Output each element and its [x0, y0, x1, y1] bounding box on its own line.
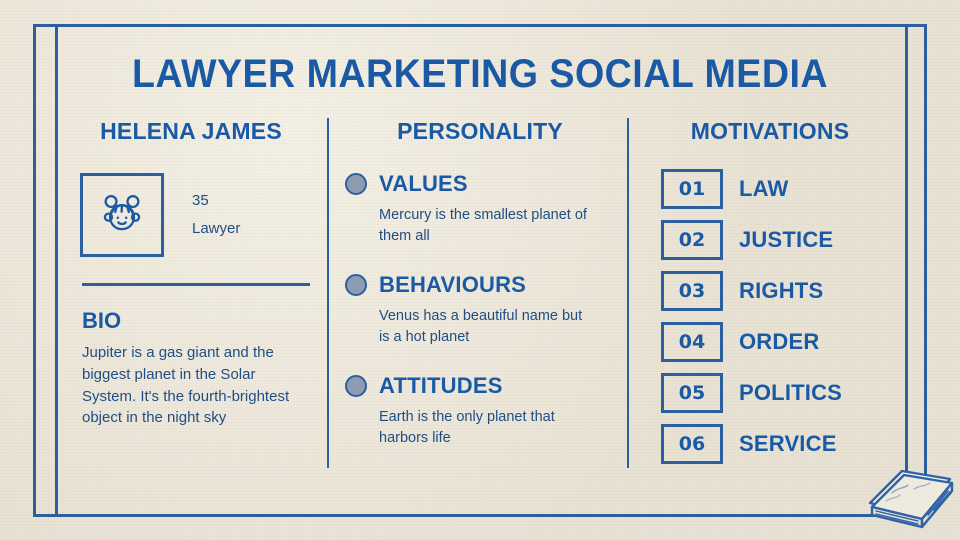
- motivation-number: 05: [661, 373, 723, 413]
- personality-item: BEHAVIOURS Venus has a beautiful name bu…: [345, 272, 615, 347]
- motivation-number: 04: [661, 322, 723, 362]
- persona-occupation: Lawyer: [192, 215, 240, 244]
- motivation-label: POLITICS: [739, 380, 842, 406]
- motivation-number: 02: [661, 220, 723, 260]
- personality-item-header: VALUES: [345, 171, 615, 197]
- motivation-number: 03: [661, 271, 723, 311]
- personality-item: ATTITUDES Earth is the only planet that …: [345, 373, 615, 448]
- slide-title: LAWYER MARKETING SOCIAL MEDIA: [29, 52, 931, 97]
- column-divider-right: [627, 118, 629, 468]
- bullet-circle-icon: [345, 274, 367, 296]
- personality-item-header: BEHAVIOURS: [345, 272, 615, 298]
- bullet-circle-icon: [345, 375, 367, 397]
- personality-item-body: Venus has a beautiful name but is a hot …: [379, 306, 587, 347]
- personality-item-header: ATTITUDES: [345, 373, 615, 399]
- motivations-heading: MOTIVATIONS: [640, 118, 900, 145]
- motivation-label: JUSTICE: [739, 227, 833, 253]
- personality-heading: PERSONALITY: [345, 118, 615, 145]
- motivation-number: 06: [661, 424, 723, 464]
- motivations-column: MOTIVATIONS 01 LAW 02 JUSTICE 03 RIGHTS …: [640, 118, 900, 475]
- motivation-label: ORDER: [739, 329, 819, 355]
- motivations-list: 01 LAW 02 JUSTICE 03 RIGHTS 04 ORDER 05 …: [640, 169, 900, 464]
- motivation-label: SERVICE: [739, 431, 837, 457]
- personality-item-label: BEHAVIOURS: [379, 272, 526, 298]
- personality-item: VALUES Mercury is the smallest planet of…: [345, 171, 615, 246]
- personality-item-label: ATTITUDES: [379, 373, 503, 399]
- persona-divider-rule: [82, 283, 310, 286]
- motivation-label: RIGHTS: [739, 278, 823, 304]
- persona-column: HELENA JAMES: [60, 118, 322, 429]
- slide-content: LAWYER MARKETING SOCIAL MEDIA HELENA JAM…: [0, 0, 960, 540]
- motivation-item: 01 LAW: [661, 169, 900, 209]
- avatar-frame: [80, 173, 164, 257]
- bullet-circle-icon: [345, 173, 367, 195]
- persona-profile-row: 35 Lawyer: [60, 173, 322, 257]
- persona-name-heading: HELENA JAMES: [60, 118, 322, 145]
- column-divider-left: [327, 118, 329, 468]
- persona-meta: 35 Lawyer: [192, 187, 240, 244]
- motivation-item: 05 POLITICS: [661, 373, 900, 413]
- personality-item-label: VALUES: [379, 171, 468, 197]
- book-illustration: [862, 445, 958, 540]
- motivation-number: 01: [661, 169, 723, 209]
- bio-heading: BIO: [82, 308, 322, 334]
- personality-item-body: Mercury is the smallest planet of them a…: [379, 205, 587, 246]
- personality-item-body: Earth is the only planet that harbors li…: [379, 407, 587, 448]
- female-face-icon: [97, 188, 147, 243]
- motivation-item: 04 ORDER: [661, 322, 900, 362]
- personality-column: PERSONALITY VALUES Mercury is the smalle…: [345, 118, 615, 448]
- bio-text: Jupiter is a gas giant and the biggest p…: [82, 342, 292, 429]
- motivation-item: 02 JUSTICE: [661, 220, 900, 260]
- motivation-label: LAW: [739, 176, 788, 202]
- motivation-item: 03 RIGHTS: [661, 271, 900, 311]
- persona-age: 35: [192, 187, 240, 216]
